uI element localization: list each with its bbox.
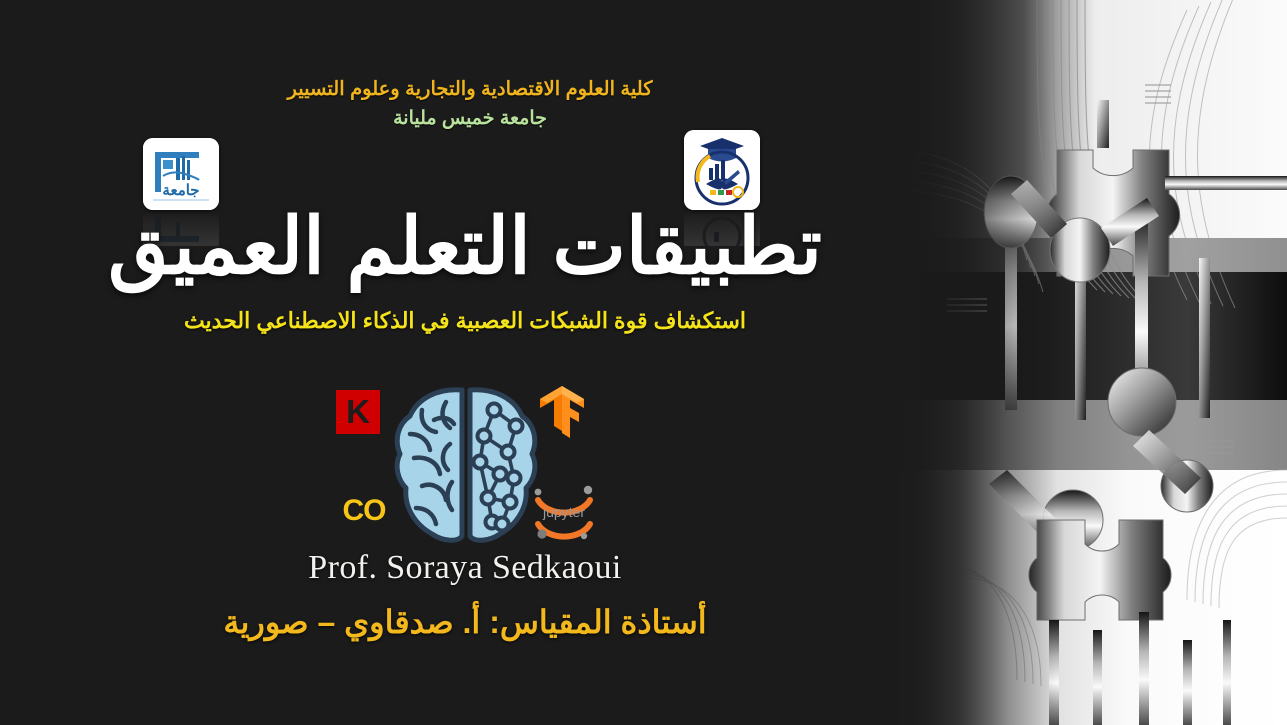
slide-header: جامعة xyxy=(0,60,940,170)
jupyter-logo: jupyter xyxy=(528,480,600,542)
tensorflow-logo xyxy=(532,382,592,442)
svg-text:جامعة: جامعة xyxy=(162,183,199,199)
header-text-block: كلية العلوم الاقتصادية والتجارية وعلوم ا… xyxy=(0,60,940,135)
svg-text:jupyter: jupyter xyxy=(542,504,585,520)
keras-logo-label: K xyxy=(346,395,370,428)
brain-neural-network-icon xyxy=(392,382,540,548)
page-title: تطبيقات التعلم العميق xyxy=(0,200,930,292)
presenter-block: Prof. Soraya Sedkaoui أستاذة المقياس: أ.… xyxy=(0,548,930,644)
page-subtitle: استكشاف قوة الشبكات العصبية في الذكاء ال… xyxy=(0,306,930,337)
keras-logo: K xyxy=(336,390,380,434)
presenter-name: Prof. Soraya Sedkaoui xyxy=(0,548,930,589)
faculty-emblem-logo xyxy=(684,130,760,210)
technology-visuals: K xyxy=(0,380,930,550)
presenter-role: أستاذة المقياس: أ. صدقاوي – صورية xyxy=(0,601,930,644)
google-colab-logo: CO xyxy=(334,493,394,529)
google-colab-logo-label: CO xyxy=(343,496,386,526)
abstract-neural-circuit-artwork xyxy=(887,0,1287,725)
university-name: جامعة خميس مليانة xyxy=(0,104,940,134)
faculty-name: كلية العلوم الاقتصادية والتجارية وعلوم ا… xyxy=(0,60,940,104)
title-block: تطبيقات التعلم العميق استكشاف قوة الشبكا… xyxy=(0,200,930,337)
title-slide: جامعة xyxy=(0,0,1287,725)
